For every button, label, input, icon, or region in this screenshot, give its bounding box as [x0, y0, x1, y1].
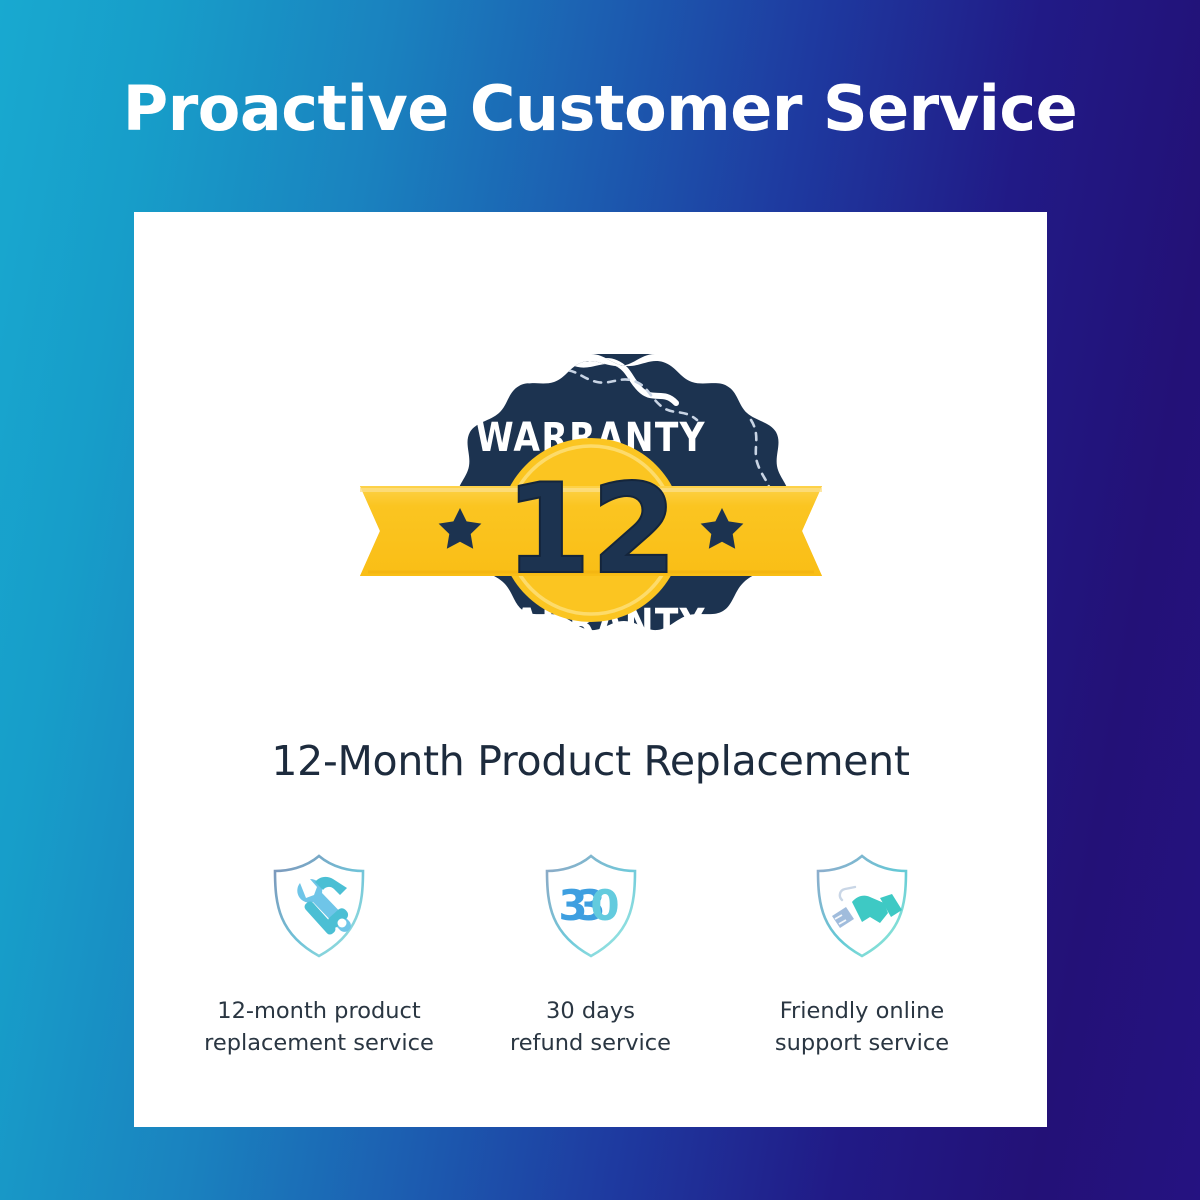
badge-number: 12	[504, 458, 677, 602]
svg-text:3: 3	[558, 881, 587, 930]
feature-item-replacement: 12-month product replacement service	[194, 850, 444, 1060]
feature-item-refund: 3 3 0 30 days refund service	[466, 850, 716, 1060]
shield-handshake-icon	[808, 850, 916, 962]
shield-tools-icon	[265, 850, 373, 962]
feature-label: 12-month product replacement service	[204, 996, 434, 1060]
content-card: WARRANTY WARRANTY 12 12-Month P	[134, 212, 1047, 1127]
page-title: Proactive Customer Service	[0, 78, 1200, 140]
feature-item-support: Friendly online support service	[737, 850, 987, 1060]
shield-30-days-icon: 3 3 0	[537, 850, 645, 962]
feature-label: Friendly online support service	[775, 996, 949, 1060]
warranty-badge: WARRANTY WARRANTY 12	[356, 340, 826, 712]
svg-text:0: 0	[590, 881, 619, 930]
poster-root: Proactive Customer Service	[0, 0, 1200, 1200]
headline: 12-Month Product Replacement	[134, 737, 1047, 785]
feature-list: 12-month product replacement service	[194, 850, 987, 1060]
feature-label: 30 days refund service	[510, 996, 671, 1060]
